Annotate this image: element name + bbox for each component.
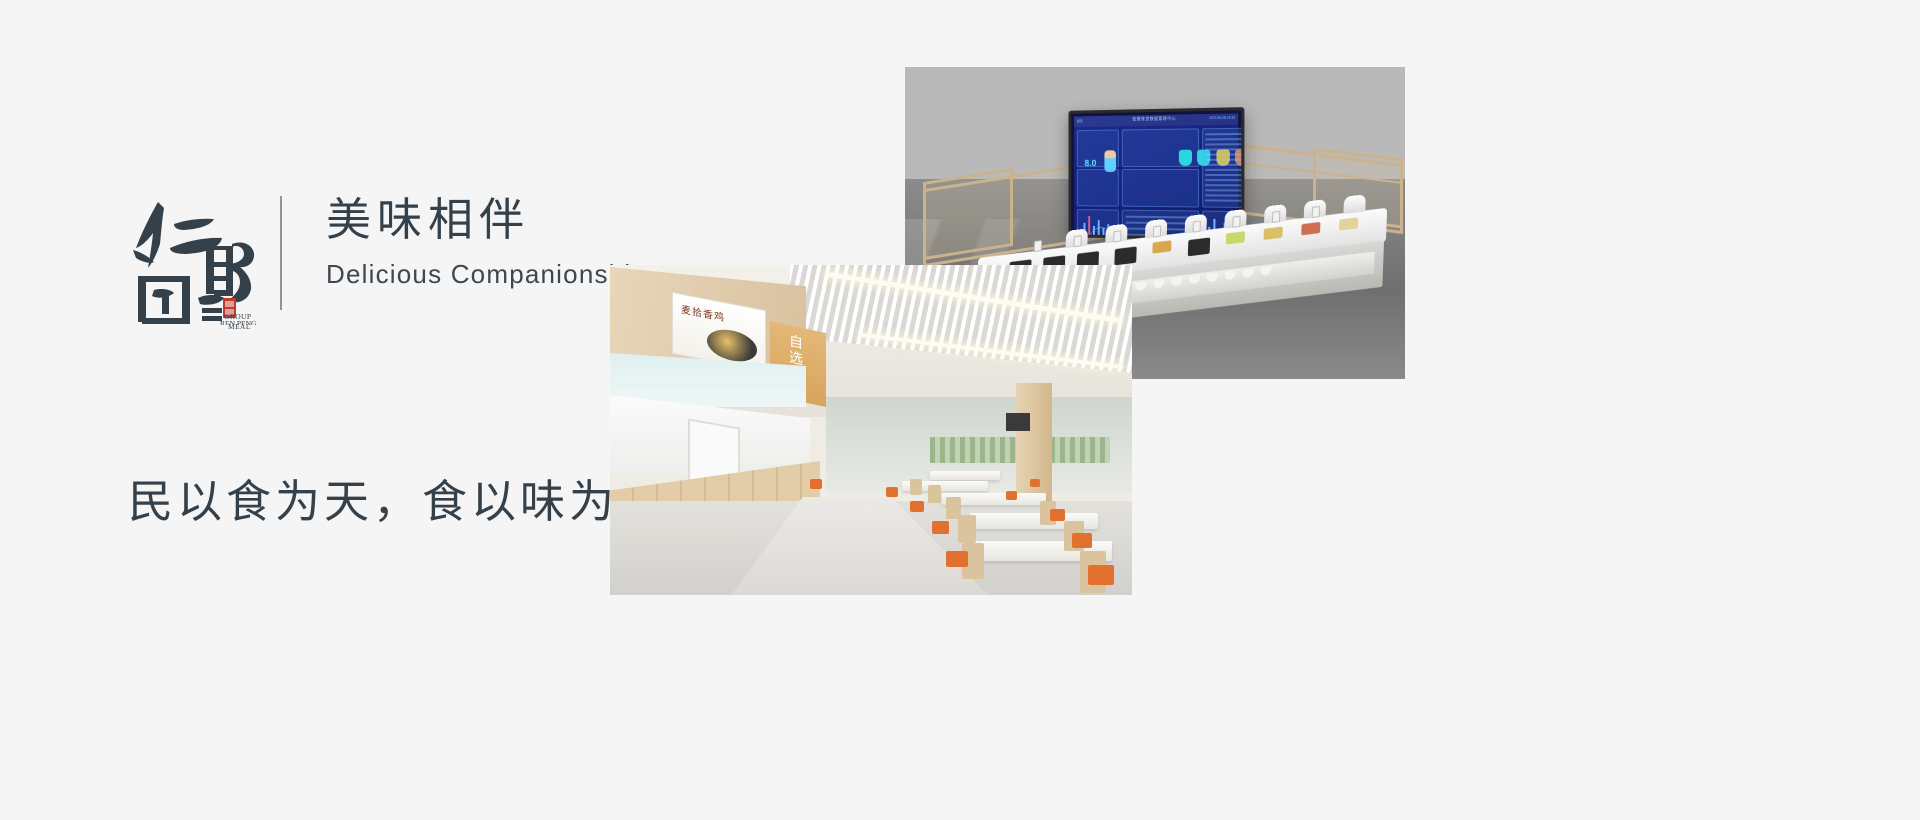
dish-photo-icon bbox=[707, 326, 757, 366]
tagline: 民以食为天，食以味为先 bbox=[128, 465, 667, 530]
kpi-icon-1 bbox=[1179, 150, 1192, 166]
logo-en-meal: MEAL bbox=[220, 322, 280, 332]
stall-sign-text: 麦拾香鸡 bbox=[681, 301, 725, 325]
brand-divider bbox=[280, 196, 282, 310]
calligraphy-logo-icon: REN PENG bbox=[128, 190, 258, 325]
dashboard-panel-table bbox=[1202, 128, 1244, 208]
cafeteria-interior-photo[interactable]: 麦拾香鸡 自选套餐 bbox=[610, 265, 1132, 595]
dashboard-panel-score: 8.0 bbox=[1077, 130, 1119, 168]
image-collage: 首页 智慧食堂数据管理中心 2023-06-08 15:32 8.0 bbox=[0, 0, 1920, 820]
logo-en-group: GROUP bbox=[220, 312, 280, 322]
brand-logo: REN PENG GROUP MEAL bbox=[128, 190, 258, 325]
headline-en: Delicious Companionship bbox=[326, 259, 647, 290]
dashboard-panel-radar bbox=[1077, 169, 1119, 207]
dashboard-panel-rings bbox=[1122, 169, 1199, 208]
brand-text: 美味相伴 Delicious Companionship bbox=[326, 190, 647, 290]
dashboard-home-label: 首页 bbox=[1077, 118, 1083, 123]
dashboard-panel-kpis bbox=[1122, 128, 1199, 167]
wall-tv-icon bbox=[1006, 413, 1030, 431]
dashboard-score: 8.0 bbox=[1084, 158, 1096, 168]
headline-cn: 美味相伴 bbox=[326, 194, 647, 246]
dashboard-clock: 2023-06-08 15:32 bbox=[1209, 116, 1235, 121]
dashboard-title: 智慧食堂数据管理中心 bbox=[1132, 116, 1175, 123]
brand-block: REN PENG GROUP MEAL 美味相伴 Delicious Compa… bbox=[128, 190, 647, 325]
